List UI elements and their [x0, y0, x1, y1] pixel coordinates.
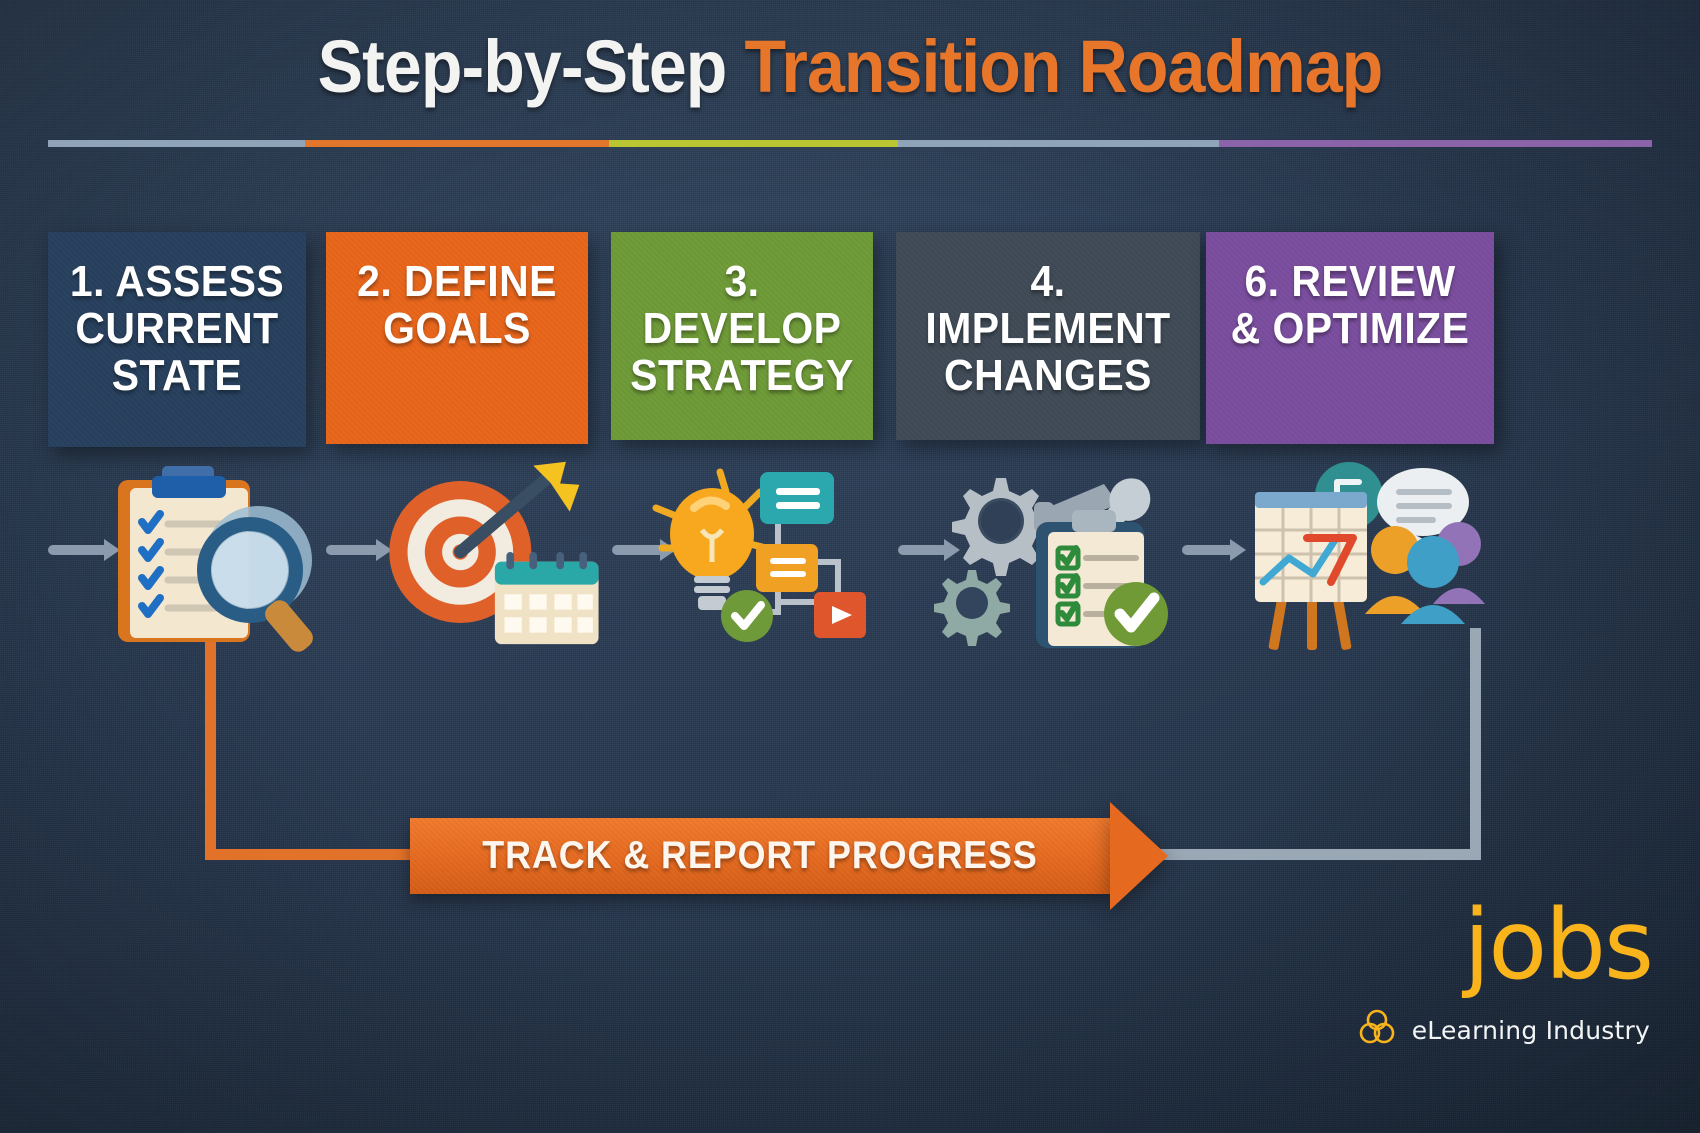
divider-segment-3	[609, 140, 898, 147]
feedback-loop-left-horizontal	[205, 849, 420, 860]
page-title: Step-by-Step Transition Roadmap	[68, 30, 1632, 104]
step-card-label-5: 6. Review & Optimize	[1225, 258, 1474, 352]
trefoil-icon	[1354, 1005, 1400, 1056]
title-part-accent: Transition Roadmap	[744, 25, 1382, 108]
step-card-row: 1. Assess Current State2. Define Goals3.…	[0, 232, 1700, 457]
divider-segment-1	[48, 140, 305, 147]
step-card-4[interactable]: 4. Implement Changes	[896, 232, 1200, 440]
step-card-2[interactable]: 2. Define Goals	[326, 232, 588, 444]
step-card-3[interactable]: 3. Develop Strategy	[611, 232, 873, 440]
lightbulb-flowchart-icon	[642, 452, 892, 652]
step-card-label-1: 1. Assess Current State	[66, 258, 287, 399]
feedback-loop-right-horizontal	[1122, 849, 1481, 860]
divider-segment-2	[305, 140, 610, 147]
target-calendar-icon	[372, 452, 612, 652]
infographic-canvas: Step-by-Step Transition Roadmap 1. Asses…	[0, 0, 1700, 1133]
step-card-1[interactable]: 1. Assess Current State	[48, 232, 306, 447]
step-card-label-2: 2. Define Goals	[344, 258, 569, 352]
divider-segment-5	[1219, 140, 1652, 147]
arrow-label: Track & Report Progress	[438, 818, 1082, 894]
chart-easel-people-icon	[1232, 452, 1492, 652]
feedback-loop-right-vertical	[1470, 628, 1481, 860]
step-card-5[interactable]: 6. Review & Optimize	[1206, 232, 1494, 444]
title-divider	[48, 140, 1652, 147]
logo-wordmark: jobs	[1464, 900, 1652, 991]
feedback-loop-left-vertical	[205, 628, 216, 860]
step-card-label-4: 4. Implement Changes	[916, 258, 1180, 399]
gears-clipboard-check-icon	[930, 452, 1180, 652]
step-icon-row	[0, 452, 1700, 652]
title-part-primary: Step-by-Step	[318, 25, 745, 108]
divider-segment-4	[898, 140, 1219, 147]
arrow-head-icon	[1110, 802, 1168, 910]
logo-tagline: eLearning Industry	[1412, 1016, 1650, 1045]
step-card-label-3: 3. Develop Strategy	[629, 258, 854, 399]
brand-logo[interactable]: jobs eLearning Industry	[1300, 900, 1660, 1030]
clipboard-magnifier-icon	[90, 452, 330, 652]
